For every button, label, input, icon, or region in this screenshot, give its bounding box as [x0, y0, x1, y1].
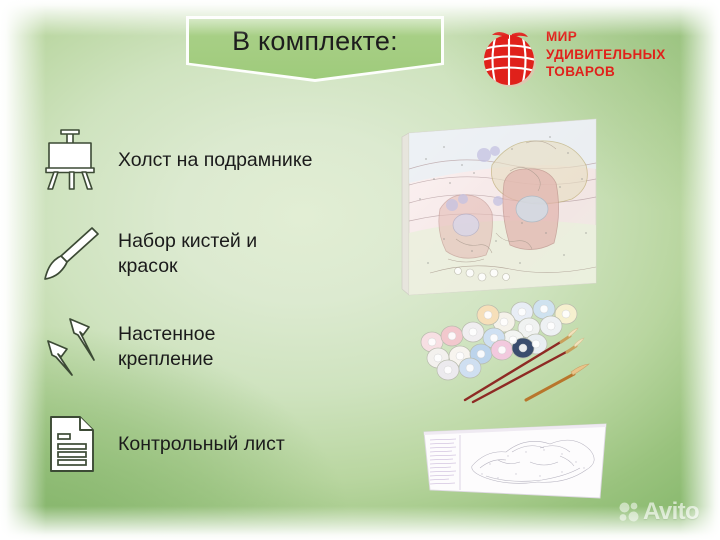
feature-label: Контрольный лист [118, 432, 285, 457]
feature-label: Набор кистей и красок [118, 229, 257, 279]
brand-line-3: ТОВАРОВ [546, 63, 666, 81]
brand-line-2: УДИВИТЕЛЬНЫХ [546, 46, 666, 64]
feature-label: Холст на подрамнике [118, 148, 312, 173]
feature-item-control-sheet: Контрольный лист [40, 412, 285, 476]
brand-text: МИР УДИВИТЕЛЬНЫХ ТОВАРОВ [546, 28, 666, 81]
brand-line-1: МИР [546, 28, 666, 46]
promo-slide: В комплекте: МИР УДИВИТЕЛЬНЫХ ТОВАРОВ [0, 0, 720, 540]
paint-by-numbers-canvas-photo [400, 113, 603, 303]
avito-dots-icon [618, 501, 640, 523]
easel-icon [40, 128, 104, 192]
control-sheet-photo [420, 418, 610, 506]
feature-item-wall-mount: Настенное крепление [40, 315, 215, 379]
paintbrush-icon [40, 222, 104, 286]
avito-watermark: Avito [618, 497, 710, 527]
nails-icon [40, 315, 104, 379]
brand-logo: МИР УДИВИТЕЛЬНЫХ ТОВАРОВ [478, 26, 708, 92]
feature-item-canvas: Холст на подрамнике [40, 128, 312, 192]
document-icon [40, 412, 104, 476]
page-title: В комплекте: [186, 26, 444, 57]
paint-pots-and-brushes-photo [418, 300, 603, 405]
title-banner: В комплекте: [186, 16, 444, 82]
avito-label: Avito [643, 498, 699, 526]
feature-label: Настенное крепление [118, 322, 215, 372]
globe-icon [478, 27, 540, 89]
feature-item-brushes: Набор кистей и красок [40, 222, 257, 286]
